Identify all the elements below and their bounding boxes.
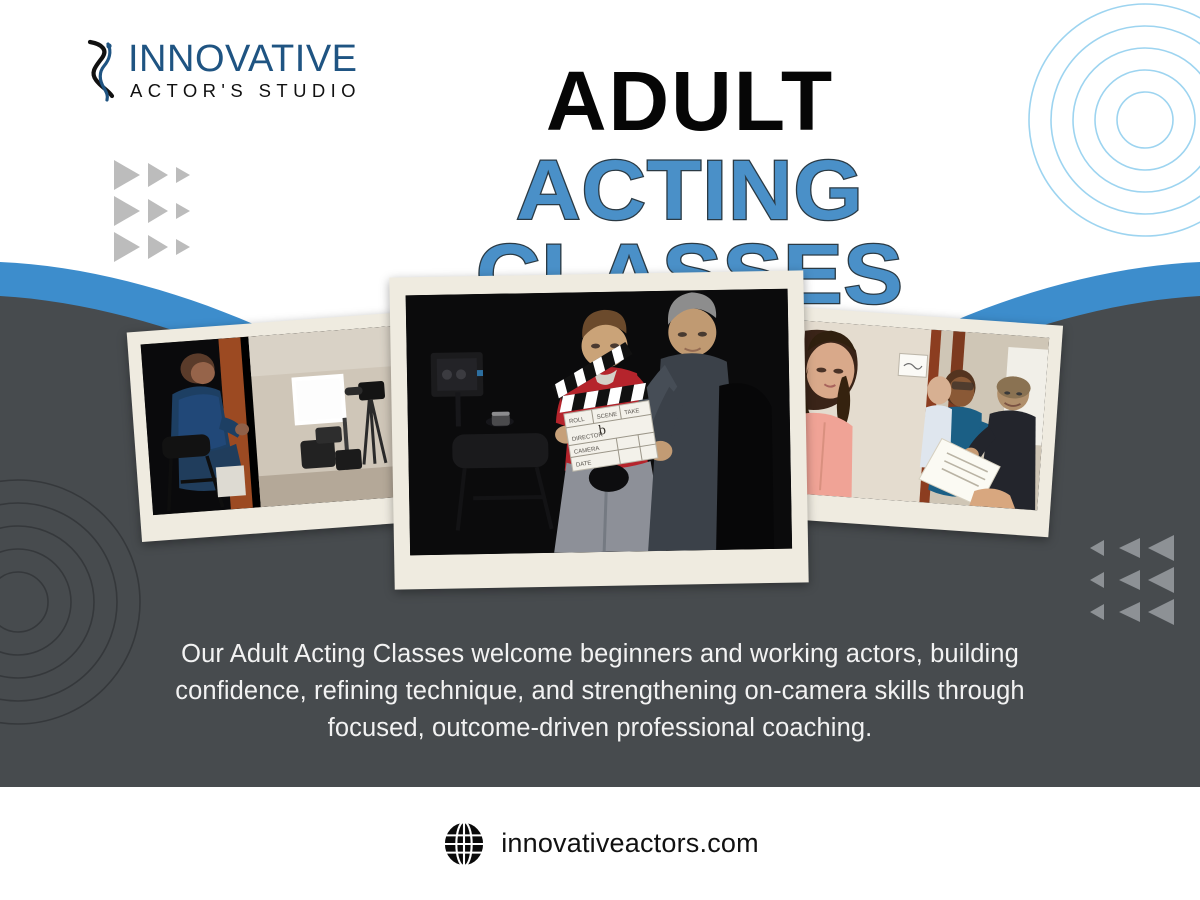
promo-banner: INNOVATIVE ACTOR'S STUDIO ADULT ACTING C… bbox=[0, 0, 1200, 900]
brand-name: INNOVATIVE bbox=[128, 40, 361, 78]
title-line-adult: ADULT bbox=[390, 62, 990, 142]
photo-left-image bbox=[141, 326, 407, 515]
photo-clapperboard-direction: ROLL SCENE TAKE DIRECTOR CAMERA DATE b bbox=[389, 270, 808, 589]
concentric-rings-top-right bbox=[1029, 4, 1200, 236]
swoosh-figure-mark-icon bbox=[82, 34, 122, 106]
brand-logo[interactable]: INNOVATIVE ACTOR'S STUDIO bbox=[82, 34, 361, 106]
photo-collage: ROLL SCENE TAKE DIRECTOR CAMERA DATE b bbox=[0, 258, 1200, 608]
description-text: Our Adult Acting Classes welcome beginne… bbox=[140, 636, 1060, 747]
photo-center-image: ROLL SCENE TAKE DIRECTOR CAMERA DATE b bbox=[406, 289, 792, 556]
website-url-text: innovativeactors.com bbox=[501, 828, 759, 859]
globe-icon bbox=[441, 821, 487, 867]
website-link[interactable]: innovativeactors.com bbox=[441, 821, 759, 867]
brand-tagline: ACTOR'S STUDIO bbox=[128, 82, 361, 101]
footer: innovativeactors.com bbox=[0, 787, 1200, 900]
photo-actor-on-camera-setup bbox=[127, 312, 422, 542]
photo-class-script-review bbox=[777, 307, 1063, 537]
triangle-grid-top-left bbox=[114, 160, 190, 262]
photo-right-image bbox=[792, 321, 1049, 511]
